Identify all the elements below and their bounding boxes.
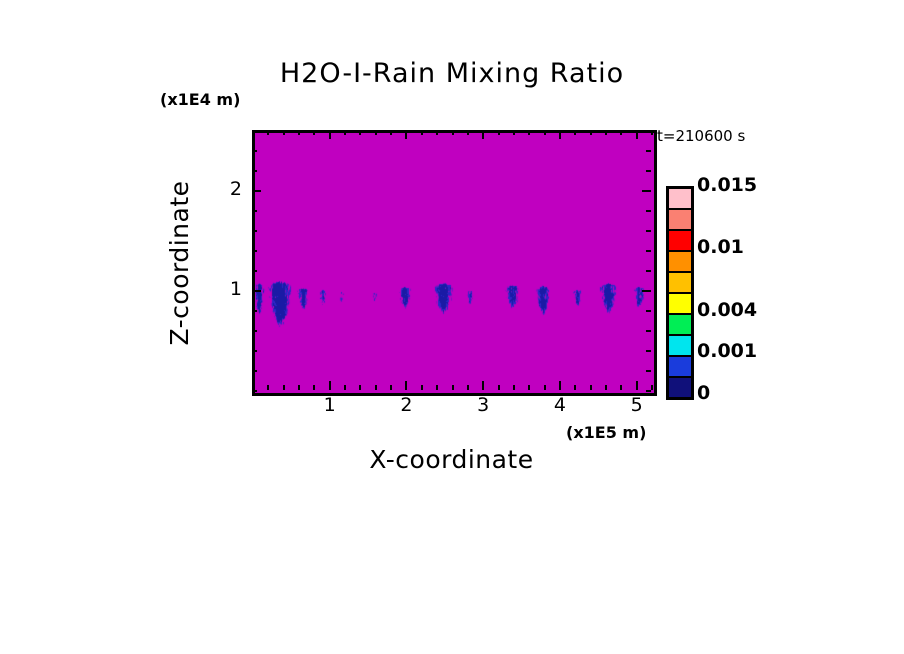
x-tick-bottom [651, 385, 653, 390]
x-tick-top [620, 130, 622, 135]
x-tick-top [559, 130, 561, 139]
y-tick-right [646, 350, 651, 352]
y-tick-left [252, 230, 257, 232]
x-tick-top [329, 130, 331, 139]
x-tick-top [482, 130, 484, 139]
x-tick-label: 3 [468, 394, 498, 416]
x-tick-bottom [513, 385, 515, 390]
x-tick-bottom [436, 385, 438, 390]
x-tick-bottom [574, 385, 576, 390]
y-tick-right [646, 210, 651, 212]
y-tick-left [252, 130, 257, 132]
x-tick-bottom [405, 381, 407, 390]
x-tick-top [283, 130, 285, 135]
x-tick-top [452, 130, 454, 135]
x-tick-top [375, 130, 377, 135]
x-tick-top [298, 130, 300, 135]
y-tick-right [642, 190, 651, 192]
y-tick-left [252, 350, 257, 352]
y-axis-unit-label: (x1E4 m) [160, 90, 240, 109]
x-tick-top [313, 130, 315, 135]
y-tick-left [252, 390, 257, 392]
page-title: H2O-I-Rain Mixing Ratio [0, 58, 904, 89]
colorbar-band [669, 210, 691, 231]
x-tick-top [651, 130, 653, 135]
x-tick-bottom [298, 385, 300, 390]
x-axis-unit-label: (x1E5 m) [566, 423, 646, 442]
x-tick-bottom [283, 385, 285, 390]
colorbar-band [669, 294, 691, 315]
x-tick-bottom [559, 381, 561, 390]
y-tick-left [252, 310, 257, 312]
y-tick-right [646, 390, 651, 392]
time-annotation: t=210600 s [657, 127, 745, 145]
y-tick-left [252, 150, 257, 152]
y-tick-left [252, 210, 257, 212]
colorbar [666, 186, 694, 400]
x-tick-top [421, 130, 423, 135]
x-tick-bottom [605, 385, 607, 390]
x-tick-bottom [636, 381, 638, 390]
x-tick-top [528, 130, 530, 135]
x-tick-bottom [467, 385, 469, 390]
x-tick-bottom [528, 385, 530, 390]
x-tick-label: 5 [622, 394, 652, 416]
x-tick-bottom [590, 385, 592, 390]
x-tick-top [405, 130, 407, 139]
y-tick-right [646, 270, 651, 272]
y-tick-label: 1 [216, 278, 242, 300]
x-tick-bottom [329, 381, 331, 390]
x-tick-top [359, 130, 361, 135]
colorbar-band [669, 189, 691, 210]
y-axis-title: Z-coordinate [165, 168, 194, 358]
y-tick-right [646, 150, 651, 152]
x-tick-top [267, 130, 269, 135]
y-tick-right [642, 290, 651, 292]
x-tick-bottom [620, 385, 622, 390]
x-tick-bottom [313, 385, 315, 390]
colorbar-band [669, 378, 691, 397]
y-tick-right [646, 330, 651, 332]
x-tick-bottom [375, 385, 377, 390]
y-tick-right [646, 130, 651, 132]
x-tick-top [636, 130, 638, 139]
x-tick-bottom [544, 385, 546, 390]
colorbar-band [669, 357, 691, 378]
colorbar-band [669, 252, 691, 273]
plot-area [252, 130, 657, 396]
y-tick-right [646, 170, 651, 172]
x-tick-bottom [344, 385, 346, 390]
x-tick-top [605, 130, 607, 135]
x-tick-top [513, 130, 515, 135]
x-tick-top [574, 130, 576, 135]
y-tick-left [252, 330, 257, 332]
y-tick-right [646, 310, 651, 312]
x-tick-bottom [498, 385, 500, 390]
x-axis-title: X-coordinate [252, 445, 651, 474]
y-tick-left [252, 190, 261, 192]
y-tick-right [646, 370, 651, 372]
x-tick-top [498, 130, 500, 135]
y-tick-right [646, 250, 651, 252]
x-tick-top [436, 130, 438, 135]
y-tick-left [252, 170, 257, 172]
x-tick-label: 1 [315, 394, 345, 416]
y-tick-right [646, 230, 651, 232]
colorbar-label: 0.015 [697, 174, 757, 196]
x-tick-top [344, 130, 346, 135]
x-tick-bottom [267, 385, 269, 390]
colorbar-band [669, 315, 691, 336]
colorbar-label: 0.01 [697, 236, 744, 258]
y-tick-left [252, 250, 257, 252]
x-tick-top [590, 130, 592, 135]
colorbar-label: 0.001 [697, 340, 757, 362]
y-tick-left [252, 370, 257, 372]
colorbar-label: 0 [697, 382, 710, 404]
x-tick-bottom [482, 381, 484, 390]
colorbar-band [669, 336, 691, 357]
x-tick-bottom [359, 385, 361, 390]
x-tick-top [544, 130, 546, 135]
x-tick-top [390, 130, 392, 135]
y-tick-label: 2 [216, 178, 242, 200]
colorbar-band [669, 231, 691, 252]
x-tick-bottom [390, 385, 392, 390]
y-tick-left [252, 270, 257, 272]
colorbar-label: 0.004 [697, 299, 757, 321]
x-tick-top [467, 130, 469, 135]
heatmap-canvas [255, 133, 654, 393]
x-tick-label: 2 [391, 394, 421, 416]
x-tick-bottom [452, 385, 454, 390]
colorbar-band [669, 273, 691, 294]
y-tick-left [252, 290, 261, 292]
x-tick-bottom [421, 385, 423, 390]
x-tick-label: 4 [545, 394, 575, 416]
